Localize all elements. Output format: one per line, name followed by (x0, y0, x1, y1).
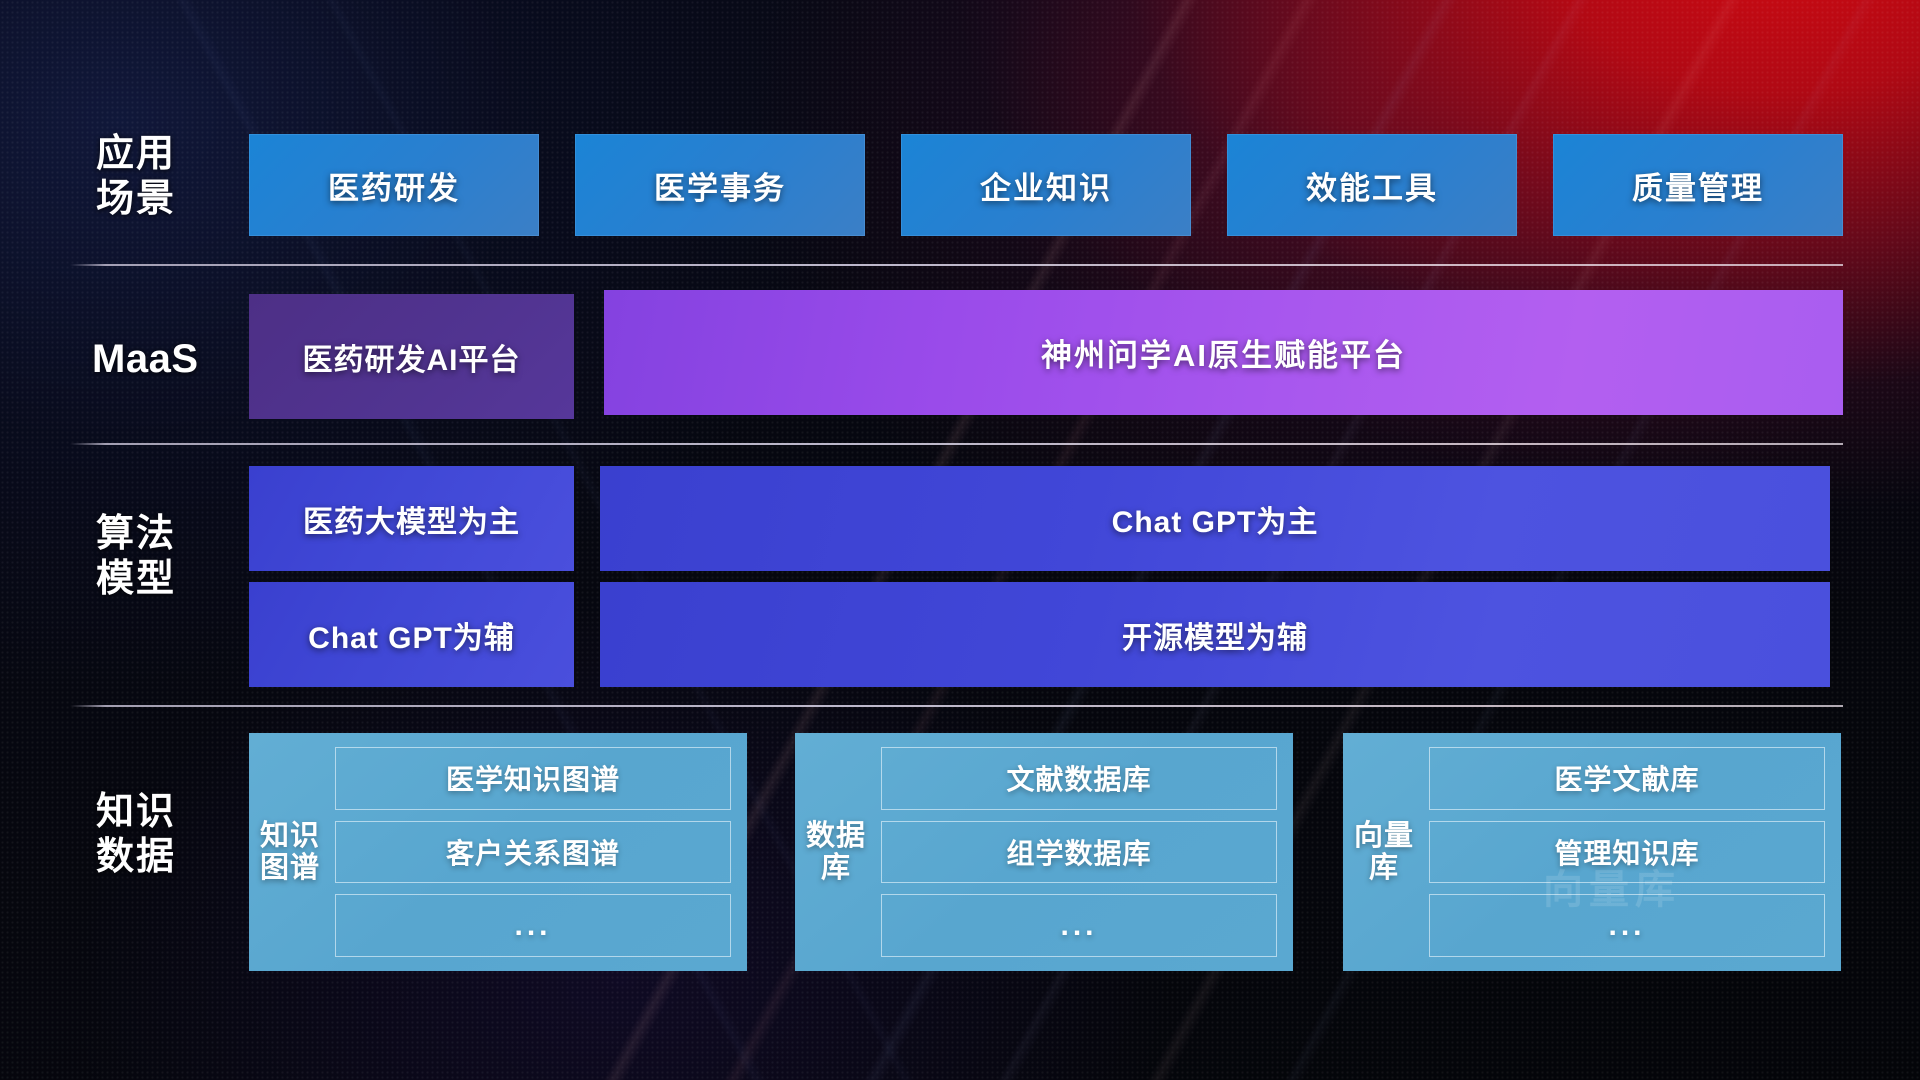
layer-label-maas: MaaS (92, 336, 262, 383)
knowledge-item-medical-knowledge-graph[interactable]: 医学知识图谱 (335, 747, 731, 810)
algo-box-chatgpt-secondary[interactable]: Chat GPT为辅 (249, 582, 574, 687)
knowledge-group-label-knowledge-graph: 知识图谱 (259, 820, 321, 885)
knowledge-item-list: 医学文献库 管理知识库 ... (1429, 747, 1825, 957)
knowledge-item-more-ellipsis[interactable]: ... (1429, 894, 1825, 957)
app-box-medicine-rd[interactable]: 医药研发 (249, 134, 539, 236)
app-box-medical-affairs[interactable]: 医学事务 (575, 134, 865, 236)
knowledge-group-label-database: 数据库 (805, 820, 867, 885)
knowledge-group-knowledge-graph[interactable]: 知识图谱 医学知识图谱 客户关系图谱 ... (249, 733, 747, 971)
knowledge-item-management-knowledge-store[interactable]: 管理知识库 (1429, 821, 1825, 884)
divider-after-algorithm-models (70, 705, 1843, 707)
knowledge-item-literature-database[interactable]: 文献数据库 (881, 747, 1277, 810)
knowledge-item-list: 文献数据库 组学数据库 ... (881, 747, 1277, 957)
app-box-enterprise-knowledge[interactable]: 企业知识 (901, 134, 1191, 236)
divider-after-maas (70, 443, 1843, 445)
maas-box-medicine-rd-ai-platform[interactable]: 医药研发AI平台 (249, 294, 574, 419)
app-box-quality-management[interactable]: 质量管理 (1553, 134, 1843, 236)
app-box-efficiency-tools[interactable]: 效能工具 (1227, 134, 1517, 236)
divider-after-application-scenarios (70, 264, 1843, 266)
algo-box-medicine-llm-primary[interactable]: 医药大模型为主 (249, 466, 574, 571)
algo-box-chatgpt-primary[interactable]: Chat GPT为主 (600, 466, 1830, 571)
maas-box-shenzhou-wenxue-platform[interactable]: 神州问学AI原生赋能平台 (604, 290, 1843, 415)
knowledge-item-omics-database[interactable]: 组学数据库 (881, 821, 1277, 884)
knowledge-item-medical-literature-store[interactable]: 医学文献库 (1429, 747, 1825, 810)
knowledge-item-more-ellipsis[interactable]: ... (881, 894, 1277, 957)
layer-label-application-scenarios: 应用 场景 (96, 132, 246, 222)
layer-label-knowledge-data: 知识 数据 (96, 790, 246, 880)
knowledge-item-more-ellipsis[interactable]: ... (335, 894, 731, 957)
layer-label-algorithm-models: 算法 模型 (96, 512, 246, 602)
diagram-canvas: 应用 场景 医药研发 医学事务 企业知识 效能工具 质量管理 MaaS 医药研发… (0, 0, 1920, 1080)
knowledge-group-label-vector-store: 向量库 (1353, 820, 1415, 885)
algo-box-opensource-secondary[interactable]: 开源模型为辅 (600, 582, 1830, 687)
knowledge-group-vector-store[interactable]: 向量库 医学文献库 管理知识库 ... 向量库 (1343, 733, 1841, 971)
knowledge-group-database[interactable]: 数据库 文献数据库 组学数据库 ... (795, 733, 1293, 971)
knowledge-item-list: 医学知识图谱 客户关系图谱 ... (335, 747, 731, 957)
knowledge-item-customer-relation-graph[interactable]: 客户关系图谱 (335, 821, 731, 884)
